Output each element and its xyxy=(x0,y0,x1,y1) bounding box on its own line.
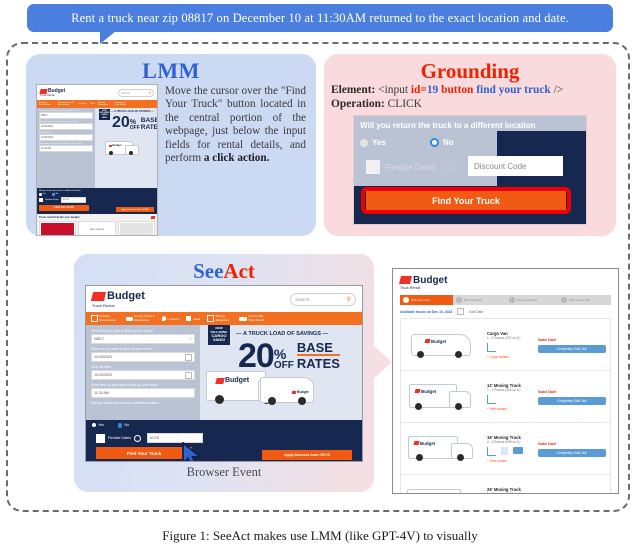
step-give-us-your-info[interactable]: 4 Give us your info xyxy=(558,295,611,305)
grounding-operation-value: CLICK xyxy=(388,98,422,110)
sa-return-location-label: Will you return the truck to a different… xyxy=(91,401,195,405)
step-1-label: Pick your truck xyxy=(411,298,429,302)
grounding-operation-line: Operation: CLICK xyxy=(331,98,609,112)
commercial-truck-icon xyxy=(239,317,247,321)
grounding-element-label: Element: xyxy=(331,84,375,96)
truck-sold-out-button-2[interactable]: Completely Sold Out! xyxy=(538,449,606,457)
available-trucks-text: Available trucks on Dec 10, 2023 xyxy=(400,310,452,314)
sa-flexible-checkbox[interactable] xyxy=(96,434,105,443)
figure-caption: Figure 1: SeeAct makes use LMM (like GPT… xyxy=(0,528,640,544)
step-1-number: 1 xyxy=(403,297,409,303)
hero-off: OFF xyxy=(130,126,140,131)
sa-budget-logo-text: Budget xyxy=(107,290,145,302)
ribbon-line-4: VANS! xyxy=(99,117,110,119)
promo-card-discover-truck[interactable]: In need of a smaller moving truck? xyxy=(118,221,155,236)
sa-nav-item-1[interactable]: Moving Trucks & Accessories xyxy=(134,315,155,321)
sa-budget-logo-mark xyxy=(91,292,106,301)
table-row[interactable]: Budget 12' Moving Truck 1 - 2 Rooms (462… xyxy=(401,371,610,423)
sa-pickup-date-label: When do you want to pick up your truck? xyxy=(91,347,195,351)
grounding-find-your-truck-button[interactable]: Find Your Truck xyxy=(366,191,566,210)
sa-nav-item-4[interactable]: Moving Resources xyxy=(216,315,232,321)
grounding-flexible-label: Flexible Dates xyxy=(385,163,436,172)
lmm-panel: LMM Budget Truck Rental Search ⚲ xyxy=(26,54,316,236)
step-4-number: 4 xyxy=(561,297,567,303)
sa-dropoff-date-label: Drop off Date: xyxy=(91,365,195,369)
cargo-van-ribbon: NOW INCLUDING CARGO VANS! xyxy=(99,109,110,120)
sa-hero-percent: % xyxy=(274,347,286,361)
sa-radio-yes[interactable] xyxy=(92,423,96,427)
grounding-element-type: button xyxy=(441,84,473,96)
browser-event-caption: Browser Event xyxy=(82,462,366,480)
help-icon[interactable] xyxy=(441,162,451,172)
nav-item-0[interactable]: Existing Reservations xyxy=(39,102,55,107)
grounding-element-line: Element: <input id=19 button find your t… xyxy=(331,84,609,98)
hero-banner: NOW INCLUDING CARGO VANS! — A TRUCK LOAD… xyxy=(95,108,157,188)
flow-arrow xyxy=(372,344,392,380)
task-instruction-bubble: Rent a truck near zip 08817 on December … xyxy=(27,4,613,32)
truck-sold-out-button-1[interactable]: Completely Sold Out! xyxy=(538,397,606,405)
step-3-label: Choose add-ons xyxy=(517,298,538,302)
table-row[interactable]: Budget 16' Moving Truck 2 - 3 Rooms (658… xyxy=(401,423,610,475)
sa-search-box[interactable]: Search ⚲ xyxy=(290,293,356,306)
res-budget-logo-sub: Truck Rental xyxy=(400,286,420,290)
truck-results-list: Budget Cargo Van 1 - 2 Rooms (257 cu ft.… xyxy=(400,318,611,494)
sa-search-icon[interactable]: ⚲ xyxy=(347,296,351,303)
task-instruction-text: Rent a truck near zip 08817 on December … xyxy=(71,11,569,26)
nav-item-2[interactable]: Locations xyxy=(78,103,87,105)
radio-no-label: No xyxy=(56,193,59,195)
grounding-element-id-key: id= xyxy=(411,84,427,96)
book-icon xyxy=(207,315,214,322)
seeact-panel: SeeAct Budget Truck Rental Search ⚲ Exis… xyxy=(74,254,374,492)
grounding-element-id-value: 19 xyxy=(427,84,438,96)
sa-find-your-truck-button[interactable]: Find Your Truck xyxy=(96,447,192,459)
pin-icon xyxy=(162,316,166,321)
find-your-truck-button[interactable]: Find Your Truck xyxy=(39,205,89,211)
nav-item-1[interactable]: Moving Trucks & Accessories xyxy=(58,102,75,107)
availability-bar: Available trucks on Dec 10, 2023 Edit Da… xyxy=(400,308,611,315)
budget-logo-sub: Truck Rental xyxy=(40,94,55,97)
truck-icon xyxy=(126,317,133,321)
truck-spec-0: 1 - 2 Rooms (257 cu ft.) xyxy=(487,336,538,340)
sa-hero-banner: NOW INCLUDING CARGO VANS! — A TRUCK LOAD… xyxy=(200,325,362,420)
lmm-panel-title: LMM xyxy=(34,58,308,84)
nav-item-3[interactable]: Deals xyxy=(90,103,95,105)
results-page-screenshot: Budget Truck Rental 1 Pick your truck 2 … xyxy=(392,268,619,494)
sa-flexible-label: Flexible Dates xyxy=(108,436,131,440)
dropoff-date-input[interactable]: 12/10/2023 xyxy=(39,134,93,141)
calendar-picker-icon[interactable] xyxy=(185,354,192,361)
edit-dates-label[interactable]: Edit Date xyxy=(469,310,483,314)
sa-ribbon-line-4: VANS! xyxy=(208,338,230,342)
sa-nav-item-0[interactable]: Existing Reservations xyxy=(100,315,119,321)
sa-pickup-time-input[interactable]: 11:30 AM xyxy=(91,388,195,398)
promo-logo-mark xyxy=(151,216,156,219)
hero-kicker: — A TRUCK LOAD OF SAVINGS — xyxy=(111,110,154,113)
rental-form: Where do you want to pick up your truck?… xyxy=(37,108,95,188)
budget-logo-mark xyxy=(39,89,47,94)
truck-status-1: Sold Out! xyxy=(538,389,606,394)
grounding-radio-yes-label: Yes xyxy=(372,138,386,147)
main-nav[interactable]: Existing Reservations Moving Trucks & Ac… xyxy=(37,100,157,108)
sa-budget-logo-sub: Truck Rental xyxy=(92,303,115,308)
lmm-webpage-thumbnail: Budget Truck Rental Search ⚲ Existing Re… xyxy=(36,84,158,236)
step-2-number: 2 xyxy=(456,297,462,303)
res-budget-logo-mark xyxy=(399,276,412,284)
sa-main-nav[interactable]: Existing Reservations Moving Trucks & Ac… xyxy=(86,312,362,325)
grounding-screenshot-crop: Will you return the truck to a different… xyxy=(353,115,587,225)
sa-hero-discount-number: 20 xyxy=(238,339,274,373)
step-3-number: 3 xyxy=(509,297,515,303)
location-pin-icon[interactable]: ⚲ xyxy=(189,337,192,341)
truck-sold-out-button-0[interactable]: Completely Sold Out! xyxy=(538,345,606,353)
seeact-browser-screenshot: Budget Truck Rental Search ⚲ Existing Re… xyxy=(85,285,363,462)
truck-spec-1: 1 - 2 Rooms (462 cu ft.) xyxy=(487,388,538,392)
grounding-return-question: Will you return the truck to a different… xyxy=(360,121,536,130)
truck-capacity-icons-1 xyxy=(487,395,538,404)
hero-rates: RATES xyxy=(141,125,157,132)
grounding-element-text: find your truck xyxy=(476,84,550,96)
sa-hero-base: BASE xyxy=(297,341,340,354)
step-pick-your-truck[interactable]: 1 Pick your truck xyxy=(400,295,453,305)
truck-details-link-2[interactable]: + View details xyxy=(487,459,538,463)
sa-search-placeholder: Search xyxy=(295,297,309,302)
truck-image-2: Budget xyxy=(405,432,483,466)
return-location-label: Will you return the truck to a different… xyxy=(39,190,155,192)
sa-pickup-location-value: 08817 xyxy=(94,337,104,341)
hero-truck-illustration: Budget xyxy=(105,141,133,155)
truck-details-link-1[interactable]: + View details xyxy=(487,407,538,411)
truck-details-link-0[interactable]: + Cargo details xyxy=(487,355,538,359)
truck-image-1: Budget xyxy=(405,380,483,414)
truck-capacity-icons-2 xyxy=(487,447,538,456)
sa-cargo-van-ribbon: NOW INCLUDING CARGO VANS! xyxy=(208,325,230,345)
radio-yes-label: Yes xyxy=(43,193,47,195)
truck-spec-3: 5 - 8 Rooms (1698 cu ft.) xyxy=(487,492,538,495)
sa-nav-item-3[interactable]: Deals xyxy=(193,317,200,321)
bubble-tail xyxy=(100,31,116,44)
mouse-cursor xyxy=(182,442,206,462)
step-choose-add-ons[interactable]: 3 Choose add-ons xyxy=(506,295,559,305)
sa-nav-item-5[interactable]: Commercial Truck Rental xyxy=(248,315,265,321)
promo-card-hire-a-helper[interactable]: HIRE A HELPER Get lift-&-carry, flat wal… xyxy=(78,221,115,236)
radio-no[interactable] xyxy=(52,193,55,196)
sa-pickup-location-input[interactable]: 08817 ⚲ xyxy=(91,334,195,344)
tag-icon xyxy=(186,316,191,321)
seeact-title-see: See xyxy=(193,259,223,283)
sa-hero-truck-illustration-2: Budget xyxy=(260,377,314,403)
edit-dates-checkbox[interactable] xyxy=(457,308,464,315)
sa-hero-truck-illustration: Budget xyxy=(206,371,266,401)
form-footer-strip: Will you return the truck to a different… xyxy=(37,188,157,214)
step-find-a-location[interactable]: 2 Find a location xyxy=(453,295,506,305)
sa-nav-item-2[interactable]: Locations xyxy=(168,317,180,321)
sa-radio-yes-label: Yes xyxy=(98,423,104,427)
truck-status-2: Sold Out! xyxy=(538,441,606,446)
hero-discount-number: 20 xyxy=(112,115,130,131)
nav-item-5[interactable]: Commercial Truck Rental xyxy=(114,102,128,107)
calendar-picker-icon-2[interactable] xyxy=(185,372,192,379)
promo-cards-section: Truck rental that fits your budget Save … xyxy=(37,214,157,236)
flexible-dates-label: Flexible Dates xyxy=(45,199,59,201)
promo-card-aarp[interactable]: Save up to 20% xyxy=(39,221,76,236)
sa-radio-no-label: No xyxy=(124,423,129,427)
res-budget-logo-text: Budget xyxy=(413,275,447,286)
radio-yes[interactable] xyxy=(39,193,42,196)
truck-image-3: Budget xyxy=(405,484,483,495)
grounding-panel: Grounding Element: <input id=19 button f… xyxy=(324,54,616,236)
truck-spec-2: 2 - 3 Rooms (658 cu ft.) xyxy=(487,440,538,444)
search-box[interactable]: Search ⚲ xyxy=(118,89,154,97)
search-icon[interactable]: ⚲ xyxy=(149,91,151,95)
grounding-radio-no-label: No xyxy=(443,138,454,147)
sa-hero-off: OFF xyxy=(274,361,294,371)
lmm-response-text: Move the cursor over the "Find Your Truc… xyxy=(165,84,306,236)
grounding-panel-title: Grounding xyxy=(331,58,609,84)
grounding-radio-no[interactable] xyxy=(430,138,439,147)
lmm-response-bold: a click action. xyxy=(204,152,270,164)
truck-status-3: Sold Out! xyxy=(538,493,606,495)
grounding-discount-input[interactable]: Discount Code xyxy=(468,156,563,176)
sa-hero-rates: RATES xyxy=(297,354,340,370)
sa-pickup-time-label: What time do you want to pick up your tr… xyxy=(91,383,195,387)
apply-discount-button[interactable]: Apply Discount Code: DCVS xyxy=(116,207,154,212)
step-2-label: Find a location xyxy=(464,298,482,302)
sa-dropoff-date-value: 12/10/2023 xyxy=(94,373,112,377)
search-placeholder: Search xyxy=(121,91,130,95)
nav-item-4[interactable]: Moving Resources xyxy=(98,102,111,107)
sa-pickup-date-value: 12/10/2023 xyxy=(94,355,112,359)
sa-form-footer-strip: Yes No Flexible Dates DCVS Find Your Tru… xyxy=(86,420,362,462)
sa-dropoff-date-input[interactable]: 12/10/2023 xyxy=(91,370,195,380)
truck-status-0: Sold Out! xyxy=(538,337,606,342)
sa-help-icon[interactable] xyxy=(134,435,141,442)
sa-apply-discount-button[interactable]: Apply Discount Code: DCVS xyxy=(262,450,352,460)
calendar-icon xyxy=(91,315,98,322)
pickup-location-input[interactable]: 08817 xyxy=(39,112,93,119)
grounding-radio-yes[interactable] xyxy=(360,139,368,147)
sa-pickup-location-label: Where do you want to pick up your truck? xyxy=(91,329,195,333)
sa-radio-no[interactable] xyxy=(118,423,123,428)
seeact-title-act: Act xyxy=(223,259,254,283)
grounding-flexible-checkbox[interactable] xyxy=(366,160,380,174)
table-row[interactable]: Budget Cargo Van 1 - 2 Rooms (257 cu ft.… xyxy=(401,319,610,371)
sa-rental-form: Where do you want to pick up your truck?… xyxy=(86,325,200,420)
truck-image-0: Budget xyxy=(405,328,483,362)
discount-code-input[interactable]: DCVS xyxy=(61,197,86,203)
truck-capacity-icons-0 xyxy=(487,343,538,352)
grounding-element-open: <input xyxy=(378,84,408,96)
sa-pickup-date-input[interactable]: 12/10/2023 xyxy=(91,352,195,362)
pickup-date-input[interactable]: 12/10/2023 xyxy=(39,123,93,130)
table-row[interactable]: Budget 26' Moving Truck 5 - 8 Rooms (169… xyxy=(401,475,610,494)
flexible-dates-checkbox[interactable] xyxy=(39,198,43,202)
booking-steps[interactable]: 1 Pick your truck 2 Find a location 3 Ch… xyxy=(400,295,611,305)
seeact-panel-title: SeeAct xyxy=(82,258,366,284)
pickup-time-input[interactable]: 11:30 AM xyxy=(39,145,93,152)
promo-section-heading: Truck rental that fits your budget xyxy=(39,216,80,219)
grounding-operation-label: Operation: xyxy=(331,98,385,110)
grounding-element-close: /> xyxy=(554,84,564,96)
step-4-label: Give us your info xyxy=(569,298,590,302)
